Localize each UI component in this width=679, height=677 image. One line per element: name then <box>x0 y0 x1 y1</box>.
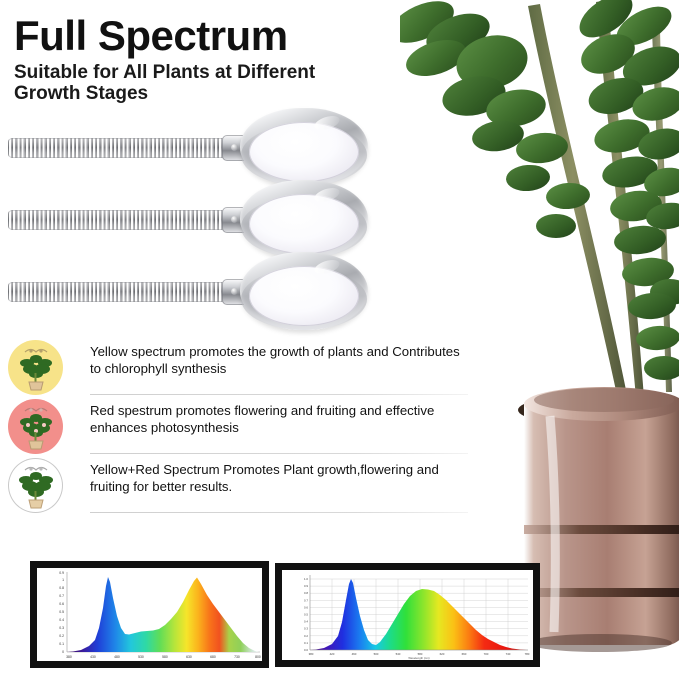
feature-text: Yellow+Red Spectrum Promotes Plant growt… <box>90 462 470 495</box>
svg-text:0.6: 0.6 <box>59 602 64 606</box>
svg-text:0.9: 0.9 <box>304 584 308 588</box>
feature-divider <box>90 394 468 395</box>
svg-text:0.5: 0.5 <box>59 610 64 614</box>
lamp-panel <box>249 266 359 326</box>
potted-plant-glyph <box>15 463 57 509</box>
svg-text:530: 530 <box>138 655 144 659</box>
svg-text:0.1: 0.1 <box>304 641 308 645</box>
svg-text:500: 500 <box>374 652 379 656</box>
svg-text:700: 700 <box>484 652 489 656</box>
svg-text:800: 800 <box>255 655 261 659</box>
svg-text:0.3: 0.3 <box>304 627 308 631</box>
svg-text:480: 480 <box>114 655 120 659</box>
potted-plant-glyph <box>15 404 57 450</box>
lamp-panel <box>249 194 359 254</box>
feature-list: Yellow spectrum promotes the growth of p… <box>6 338 474 515</box>
svg-text:630: 630 <box>186 655 192 659</box>
plant-yellow-icon <box>8 340 63 395</box>
svg-text:380: 380 <box>309 652 314 656</box>
svg-text:660: 660 <box>462 652 467 656</box>
lamp-head <box>240 252 368 338</box>
svg-text:620: 620 <box>440 652 445 656</box>
gooseneck-arm <box>8 138 230 158</box>
svg-text:730: 730 <box>234 655 240 659</box>
lamp-panel <box>249 122 359 182</box>
svg-text:380: 380 <box>66 655 72 659</box>
svg-text:740: 740 <box>506 652 511 656</box>
svg-text:680: 680 <box>210 655 216 659</box>
svg-text:420: 420 <box>330 652 335 656</box>
feature-item: Yellow+Red Spectrum Promotes Plant growt… <box>6 456 474 515</box>
feature-item: Yellow spectrum promotes the growth of p… <box>6 338 474 397</box>
svg-text:0.4: 0.4 <box>304 620 308 624</box>
feature-text: Yellow spectrum promotes the growth of p… <box>90 344 470 377</box>
svg-text:0.7: 0.7 <box>304 598 308 602</box>
x-axis-title: Wavelength (nm) <box>408 656 429 660</box>
svg-text:780: 780 <box>525 652 530 656</box>
svg-text:1: 1 <box>62 578 64 582</box>
svg-text:580: 580 <box>162 655 168 659</box>
plant-red-icon <box>8 399 63 454</box>
svg-text:430: 430 <box>90 655 96 659</box>
plant-white-icon <box>8 458 63 513</box>
svg-text:0.2: 0.2 <box>304 634 308 638</box>
svg-text:540: 540 <box>396 652 401 656</box>
svg-text:0: 0 <box>62 650 64 654</box>
left-spectrum-plot: 0 0.1 0.2 0.3 0.4 0.5 0.6 0.7 0.8 1 0.9 … <box>37 568 262 661</box>
feature-text: Red spestrum promotes flowering and frui… <box>90 403 470 436</box>
right-spectrum-plot: 0.0 0.1 0.2 0.3 0.4 0.5 0.6 0.7 0.8 0.9 … <box>282 570 533 660</box>
feature-divider <box>90 512 468 513</box>
left-spectrum-chart: 0 0.1 0.2 0.3 0.4 0.5 0.6 0.7 0.8 1 0.9 … <box>30 561 269 668</box>
svg-text:0.3: 0.3 <box>59 626 64 630</box>
feature-item: Red spestrum promotes flowering and frui… <box>6 397 474 456</box>
page-title: Full Spectrum <box>14 14 414 58</box>
svg-text:0.7: 0.7 <box>59 594 64 598</box>
right-spectrum-chart: 0.0 0.1 0.2 0.3 0.4 0.5 0.6 0.7 0.8 0.9 … <box>275 563 540 667</box>
svg-text:0.2: 0.2 <box>59 634 64 638</box>
potted-plant-glyph <box>15 345 57 391</box>
gooseneck-arm <box>8 210 230 230</box>
product-infographic: Full Spectrum Suitable for All Plants at… <box>0 0 679 677</box>
gooseneck-arm <box>8 282 230 302</box>
svg-text:0.5: 0.5 <box>304 613 308 617</box>
svg-text:1.0: 1.0 <box>304 577 308 581</box>
svg-text:0.9: 0.9 <box>59 571 64 575</box>
svg-text:0.1: 0.1 <box>59 642 64 646</box>
headline-block: Full Spectrum Suitable for All Plants at… <box>14 14 414 104</box>
svg-text:0.8: 0.8 <box>59 586 64 590</box>
feature-divider <box>90 453 468 454</box>
svg-text:0.8: 0.8 <box>304 591 308 595</box>
svg-text:460: 460 <box>352 652 357 656</box>
svg-text:0.6: 0.6 <box>304 605 308 609</box>
page-subtitle: Suitable for All Plants at Different Gro… <box>14 62 374 104</box>
svg-text:0.4: 0.4 <box>59 618 64 622</box>
